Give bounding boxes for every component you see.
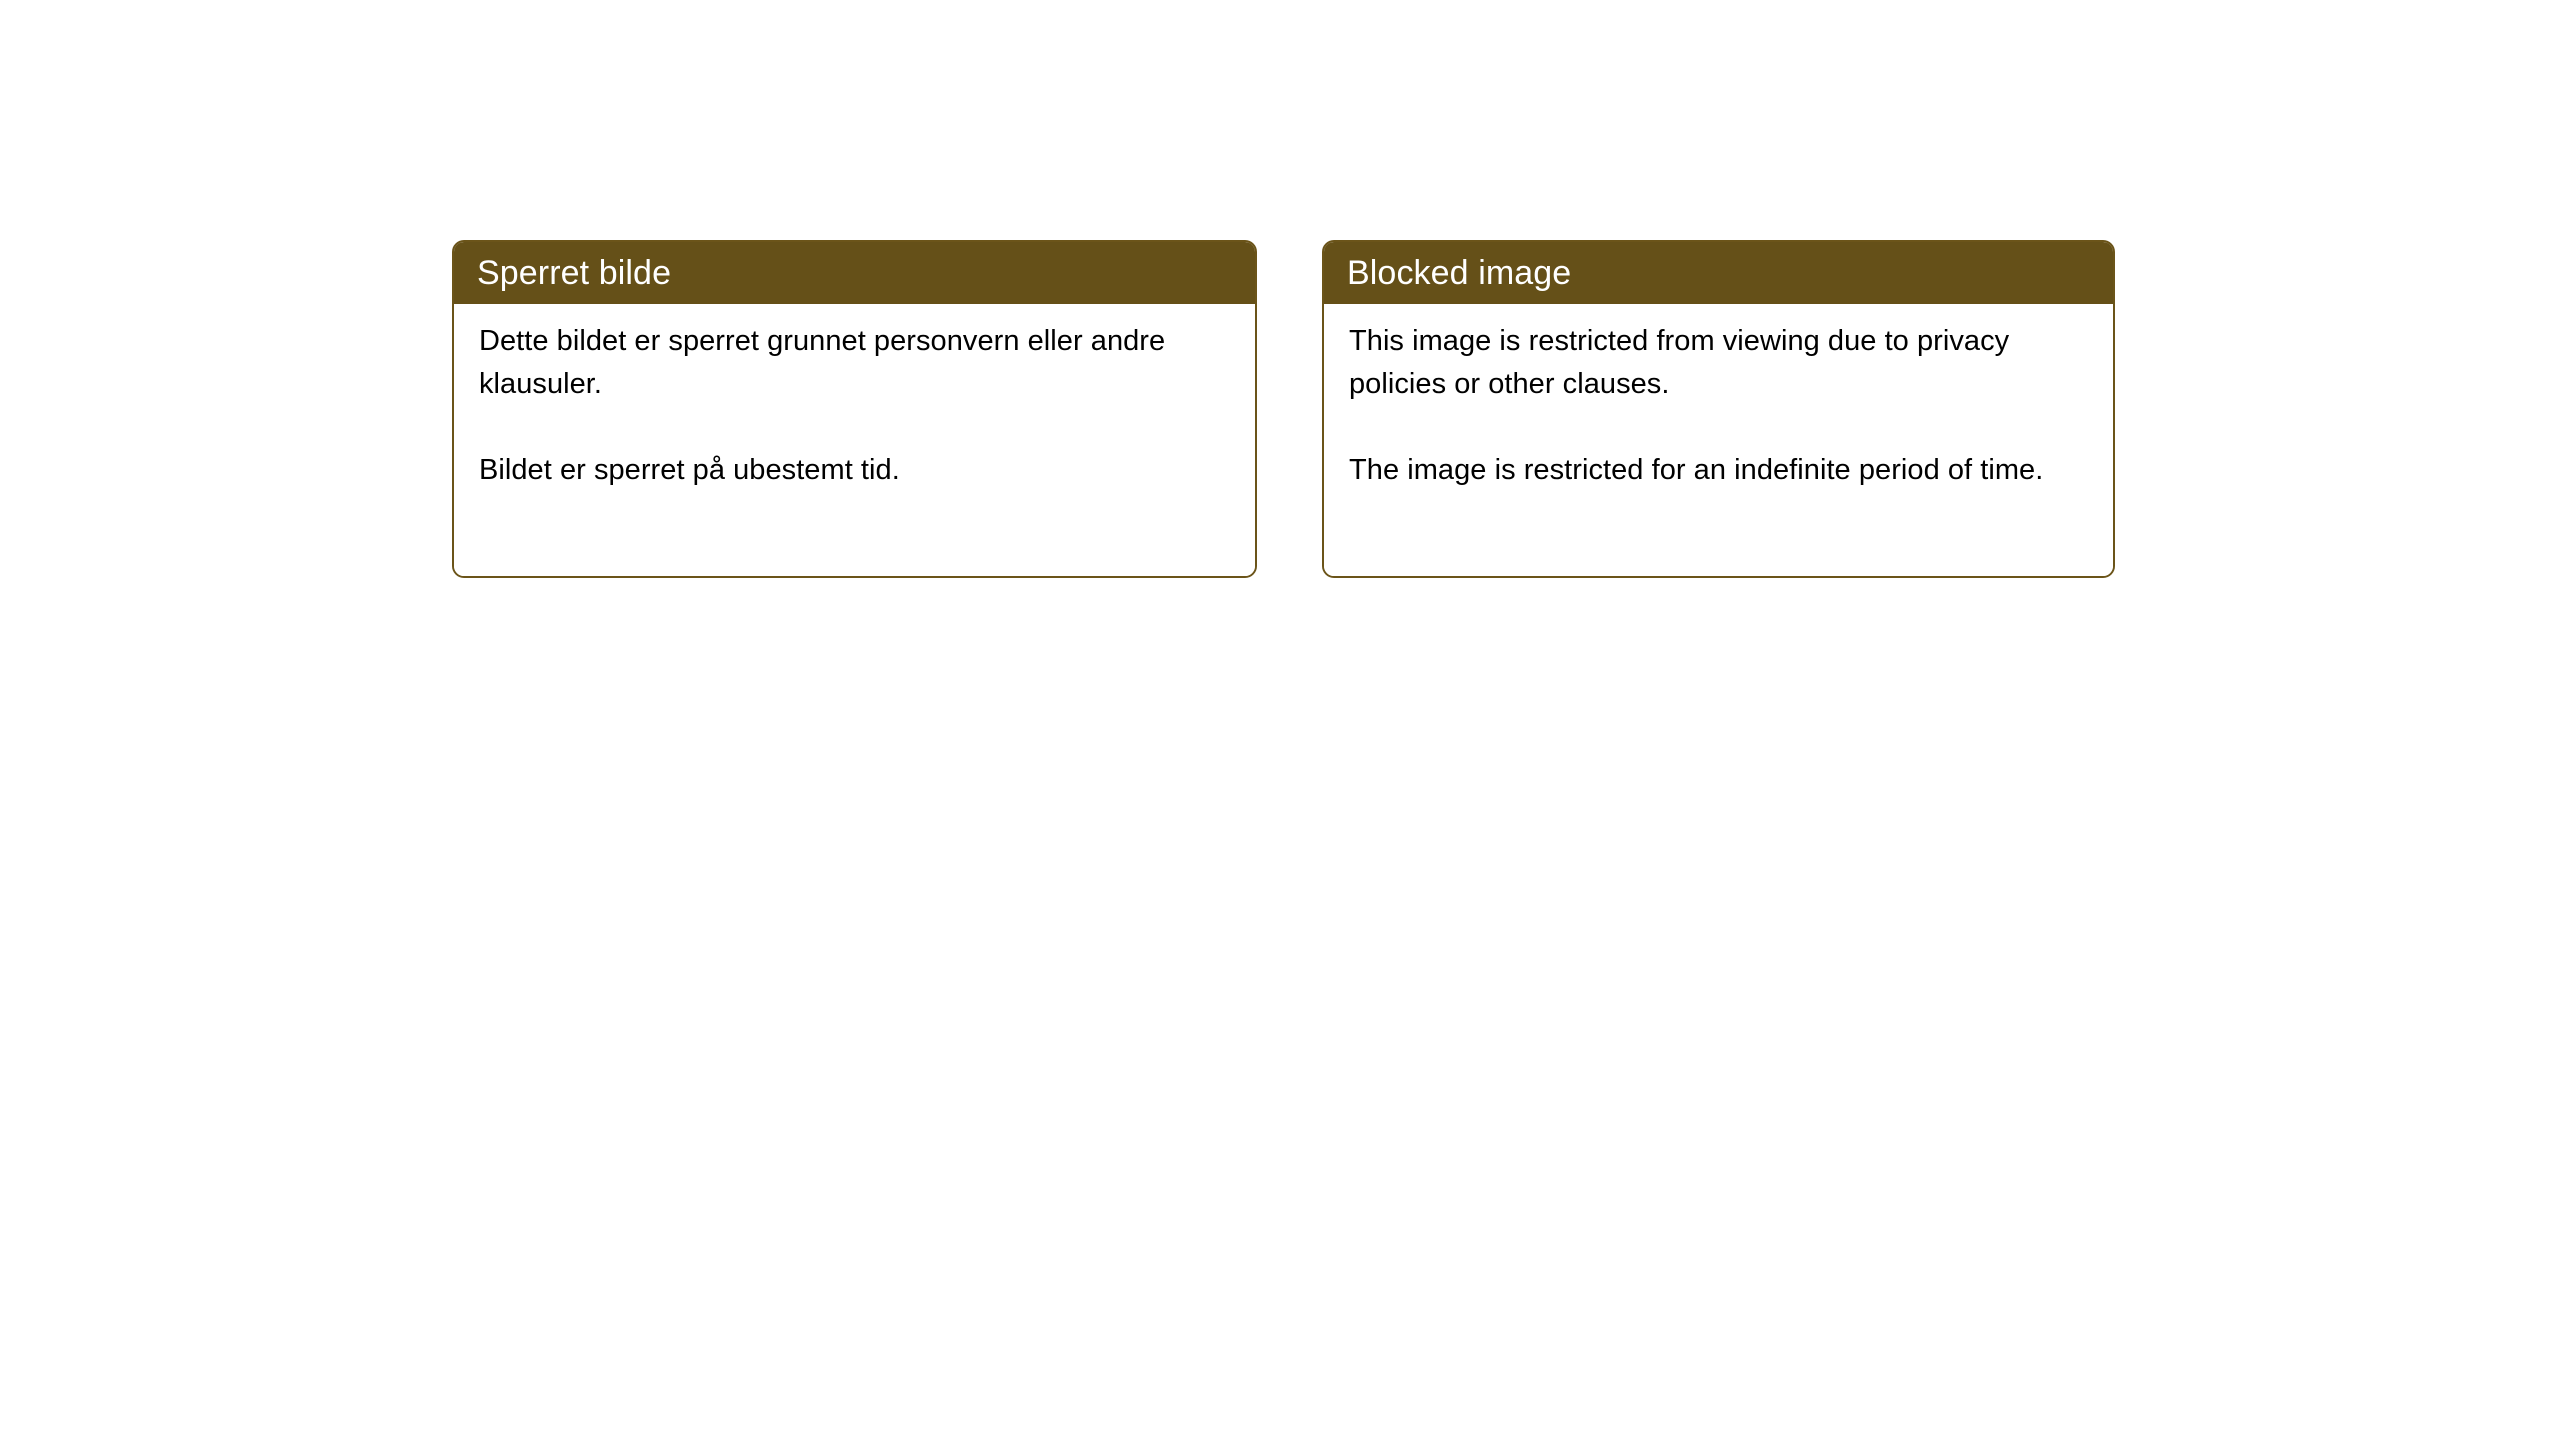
blocked-image-card-norwegian: Sperret bilde Dette bildet er sperret gr… [452,240,1257,578]
paragraph-spacer [1349,406,2087,449]
card-paragraph-norwegian-2: Bildet er sperret på ubestemt tid. [479,449,1229,492]
notice-cards-container: Sperret bilde Dette bildet er sperret gr… [452,240,2115,578]
paragraph-spacer [479,406,1229,449]
card-paragraph-english-2: The image is restricted for an indefinit… [1349,449,2087,492]
card-body-norwegian: Dette bildet er sperret grunnet personve… [454,304,1255,576]
blocked-image-card-english: Blocked image This image is restricted f… [1322,240,2115,578]
card-paragraph-english-1: This image is restricted from viewing du… [1349,320,2087,406]
card-paragraph-norwegian-1: Dette bildet er sperret grunnet personve… [479,320,1229,406]
page-root: Sperret bilde Dette bildet er sperret gr… [0,0,2560,1440]
card-header-english: Blocked image [1324,242,2113,304]
card-title-english: Blocked image [1347,256,1571,290]
card-body-english: This image is restricted from viewing du… [1324,304,2113,576]
card-header-norwegian: Sperret bilde [454,242,1255,304]
card-title-norwegian: Sperret bilde [477,256,671,290]
